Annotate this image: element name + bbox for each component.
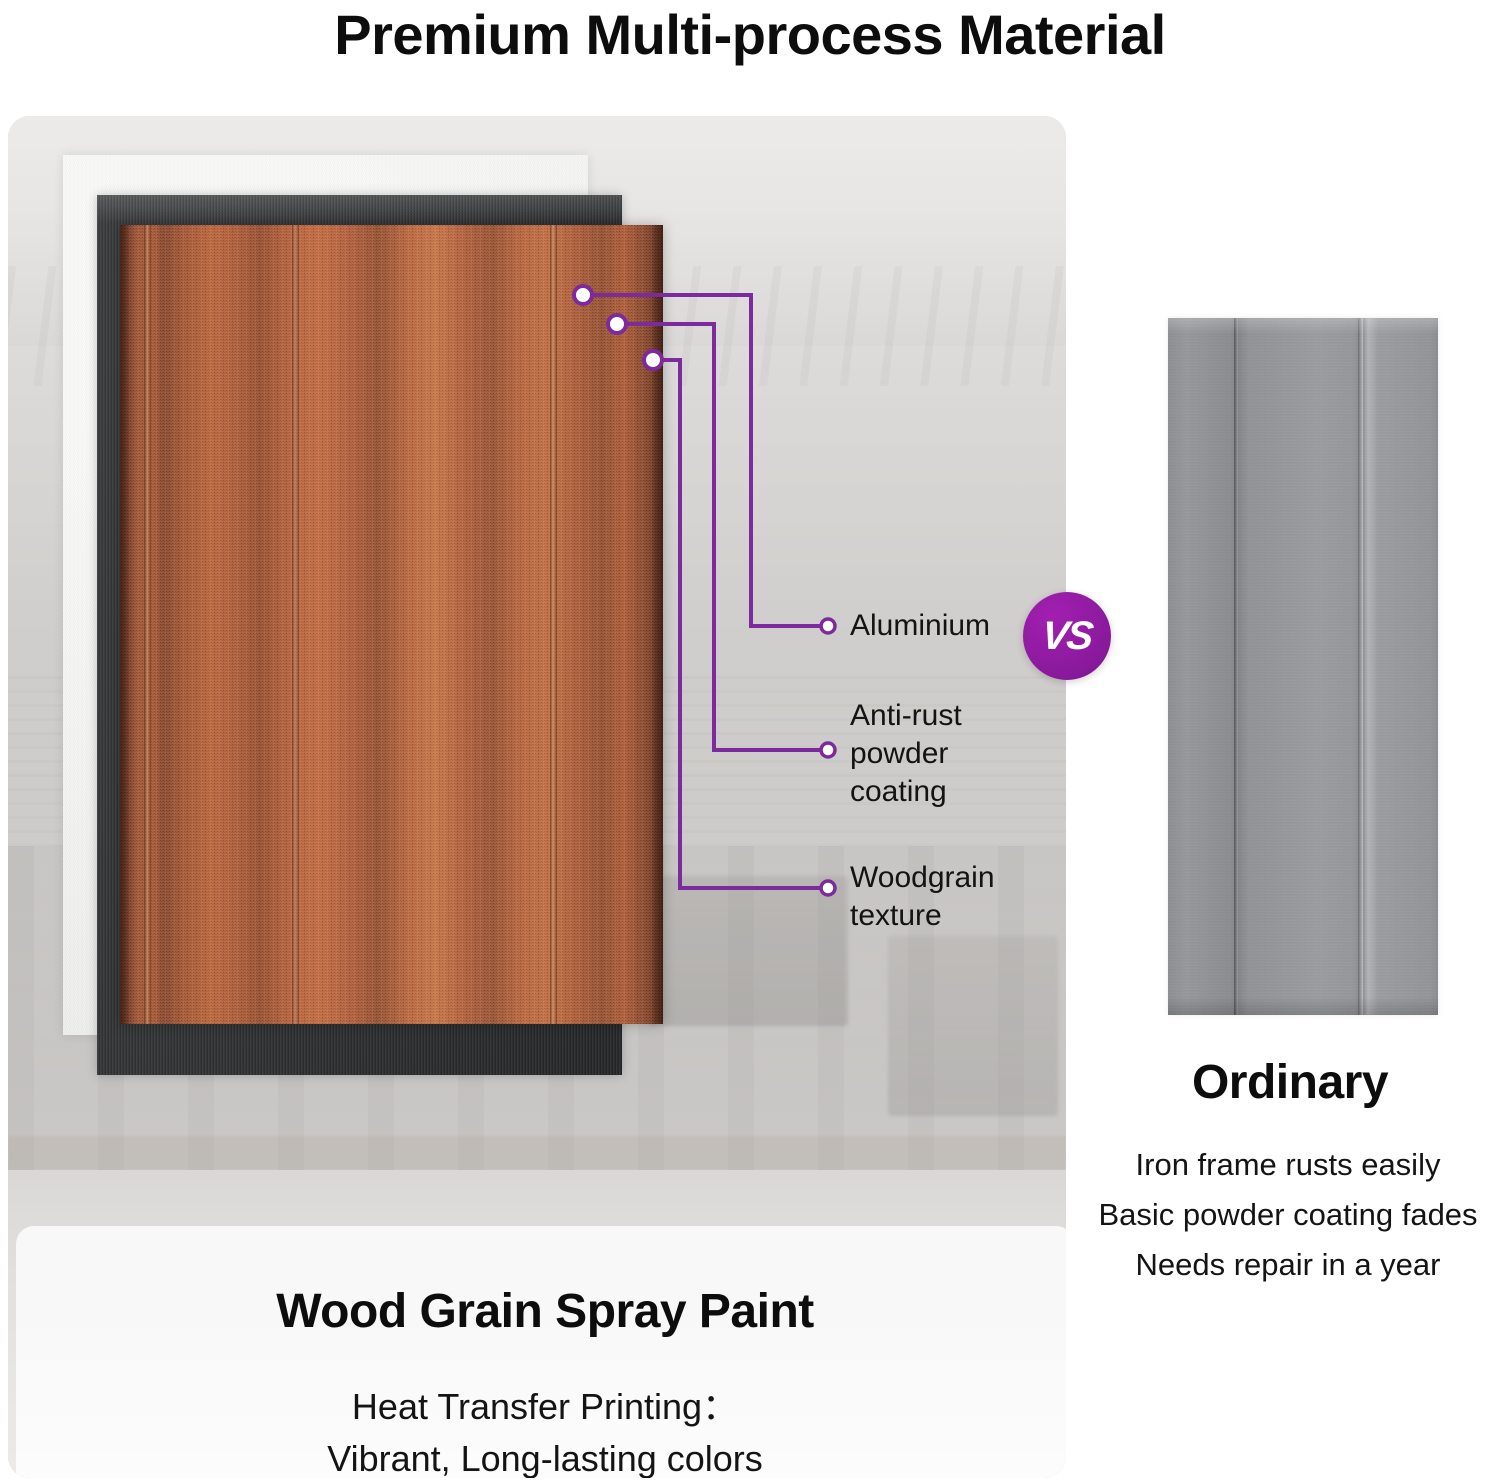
leader-line-anti-rust: [617, 324, 826, 750]
ordinary-panel-sheen: [1168, 318, 1438, 334]
hero-caption-body: Heat Transfer Printing： Vibrant, Long-la…: [16, 1381, 1066, 1478]
callout-label-aluminium: Aluminium: [850, 607, 990, 645]
vs-badge: VS: [1023, 592, 1111, 680]
ordinary-product-panel: [1168, 318, 1438, 1015]
hero-product-card: Aluminium Anti-rust powder coating Woodg…: [8, 116, 1066, 1478]
ordinary-panel-groove-1: [1234, 318, 1238, 1015]
anchor-dot-woodgrain: [644, 351, 662, 369]
ordinary-panel-texture: [1168, 318, 1438, 1015]
ordinary-panel-groove-2: [1358, 318, 1363, 1015]
page-title: Premium Multi-process Material: [0, 2, 1500, 67]
label-dot-woodgrain: [821, 881, 835, 895]
ordinary-panel-shadow: [1168, 997, 1438, 1015]
leader-line-aluminium: [583, 295, 826, 626]
hero-caption-title: Wood Grain Spray Paint: [16, 1284, 1066, 1339]
anchor-dot-aluminium: [574, 286, 592, 304]
callout-label-anti-rust: Anti-rust powder coating: [850, 697, 962, 811]
anchor-dot-anti-rust: [608, 315, 626, 333]
label-dot-aluminium: [821, 619, 835, 633]
hero-caption-panel: Wood Grain Spray Paint Heat Transfer Pri…: [16, 1226, 1066, 1478]
ordinary-drawbacks-list: Iron frame rusts easily Basic powder coa…: [1078, 1140, 1498, 1290]
label-dot-anti-rust: [821, 743, 835, 757]
ordinary-title: Ordinary: [1090, 1055, 1490, 1110]
vs-badge-label: VS: [1040, 616, 1094, 656]
callout-label-woodgrain: Woodgrain texture: [850, 859, 995, 935]
